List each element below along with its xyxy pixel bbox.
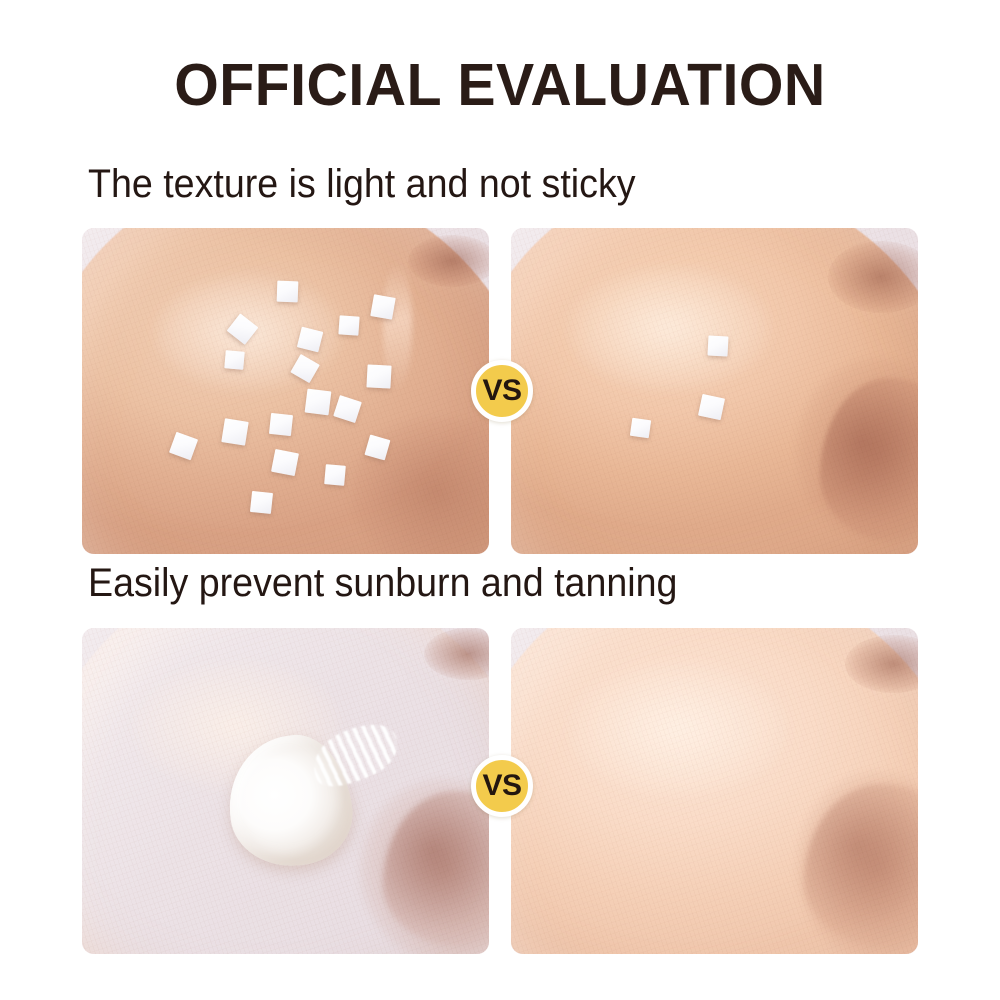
section-caption-texture: The texture is light and not sticky (88, 164, 636, 204)
hand-photo-few-squares (511, 228, 918, 554)
hand-photo-with-cream (82, 628, 489, 954)
paper-square (367, 364, 392, 389)
page-title: OFFICIAL EVALUATION (15, 56, 985, 115)
photo-panel-sunburn-after (511, 628, 918, 954)
paper-square (250, 491, 273, 514)
paper-square (222, 419, 250, 446)
skin-texture (511, 628, 918, 954)
photo-panel-texture-before (82, 228, 489, 554)
vs-badge-texture: VS (471, 360, 533, 422)
paper-square (224, 350, 244, 370)
paper-square (630, 417, 651, 438)
photo-panel-texture-after (511, 228, 918, 554)
paper-square (269, 413, 293, 436)
hand-photo-absorbed (511, 628, 918, 954)
product-evaluation-page: OFFICIAL EVALUATION The texture is light… (0, 0, 1000, 1000)
photo-panel-sunburn-before (82, 628, 489, 954)
hand-photo-many-squares (82, 228, 489, 554)
paper-square (305, 389, 332, 416)
paper-square (698, 394, 725, 421)
paper-square (338, 315, 359, 336)
skin-texture (82, 228, 489, 554)
paper-square (708, 335, 729, 356)
section-caption-sunburn: Easily prevent sunburn and tanning (88, 563, 677, 603)
vs-badge-sunburn: VS (471, 755, 533, 817)
paper-square (324, 464, 346, 486)
paper-square (276, 280, 298, 301)
skin-texture (511, 228, 918, 554)
paper-square (271, 449, 299, 476)
paper-square (370, 294, 396, 319)
